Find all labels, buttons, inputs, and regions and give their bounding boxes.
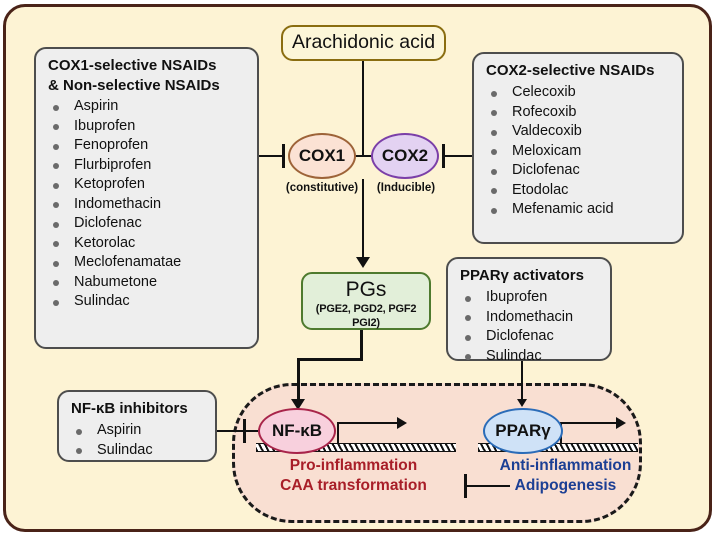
edge-pgs-to-nfkb-vertical [297, 358, 300, 403]
edge-pgs-stem [360, 330, 363, 361]
pgs-label: PGs [303, 274, 429, 302]
list-item: Indomethacin [462, 308, 610, 328]
list-item: Ketoprofen [50, 175, 257, 195]
arachidonic-acid-label: Arachidonic acid [292, 31, 435, 53]
nfkb-node: NF-κB [258, 408, 336, 454]
list-item: Rofecoxib [488, 103, 682, 123]
list-item: Ibuprofen [50, 117, 257, 137]
cox1-box-heading-line1: COX1-selective NSAIDs [36, 49, 257, 76]
promoter-arrow-ppar-horizontal [560, 422, 618, 424]
edge-pgs-elbow-horizontal [297, 358, 363, 361]
list-item: Aspirin [50, 97, 257, 117]
cox2-enzyme-node: COX2 [371, 133, 439, 179]
ppar-activators-box: PPARγ activators Ibuprofen Indomethacin … [446, 257, 612, 361]
pro-inflammation-line2: CAA transformation [246, 476, 461, 496]
edge-ppar-inhibits-nfkb-line [464, 485, 510, 487]
list-item: Meclofenamatae [50, 253, 257, 273]
list-item: Ketorolac [50, 234, 257, 254]
pro-inflammation-line1: Pro-inflammation [246, 456, 461, 476]
list-item: Celecoxib [488, 83, 682, 103]
edge-cox2nsaids-inhibits-cox2-bar [442, 144, 445, 168]
list-item: Ibuprofen [462, 288, 610, 308]
promoter-arrow-ppar-head [616, 417, 626, 429]
edge-activators-to-ppar-line [521, 361, 523, 403]
pro-inflammation-output: Pro-inflammation CAA transformation [246, 456, 461, 496]
list-item: Sulindac [73, 441, 215, 461]
cox1-enzyme-node: COX1 [288, 133, 356, 179]
ppar-label: PPARγ [495, 421, 550, 440]
list-item: Sulindac [50, 292, 257, 312]
ppar-node: PPARγ [483, 408, 563, 454]
list-item: Etodolac [488, 181, 682, 201]
cox2-box-list: Celecoxib Rofecoxib Valdecoxib Meloxicam… [474, 82, 682, 227]
list-item: Flurbiprofen [50, 156, 257, 176]
ppar-box-list: Ibuprofen Indomethacin Diclofenac Sulind… [448, 287, 610, 373]
list-item: Diclofenac [462, 327, 610, 347]
cox1-selective-nsaids-box: COX1-selective NSAIDs & Non-selective NS… [34, 47, 259, 349]
cox1-label: COX1 [299, 146, 345, 165]
anti-inflammation-output: Anti-inflammation Adipogenesis [478, 456, 653, 496]
nfkb-box-heading: NF-κB inhibitors [59, 392, 215, 420]
cox2-sublabel: (Inducible) [360, 182, 452, 194]
nfkb-box-list: Aspirin Sulindac [59, 420, 215, 467]
pgs-sublabel: (PGE2, PGD2, PGF2 PGI2) [303, 302, 429, 330]
list-item: Meloxicam [488, 142, 682, 162]
list-item: Indomethacin [50, 195, 257, 215]
edge-ppar-inhibits-nfkb-bar [464, 474, 467, 498]
cox2-label: COX2 [382, 146, 428, 165]
list-item: Valdecoxib [488, 122, 682, 142]
promoter-arrow-nfkb-horizontal [337, 422, 399, 424]
cox2-selective-nsaids-box: COX2-selective NSAIDs Celecoxib Rofecoxi… [472, 52, 684, 244]
list-item: Diclofenac [488, 161, 682, 181]
nfkb-label: NF-κB [272, 421, 322, 440]
list-item: Nabumetone [50, 273, 257, 293]
list-item: Sulindac [462, 347, 610, 367]
pgs-node: PGs (PGE2, PGD2, PGF2 PGI2) [301, 272, 431, 330]
edge-inhibitors-to-nfkb-bar [243, 419, 246, 443]
cox2-box-heading: COX2-selective NSAIDs [474, 54, 682, 82]
cox1-sublabel: (constitutive) [276, 182, 368, 194]
edge-nsaids-inhibits-cox1-bar [282, 144, 285, 168]
promoter-arrow-nfkb-head [397, 417, 407, 429]
pathway-diagram: Arachidonic acid COX1 (constitutive) COX… [0, 0, 715, 541]
nfkb-inhibitors-box: NF-κB inhibitors Aspirin Sulindac [57, 390, 217, 462]
ppar-box-heading: PPARγ activators [448, 259, 610, 287]
cox1-box-heading-line2: & Non-selective NSAIDs [36, 76, 257, 96]
arachidonic-acid-node: Arachidonic acid [281, 25, 446, 61]
list-item: Fenoprofen [50, 136, 257, 156]
edge-cox-to-pgs-arrowhead [356, 257, 370, 268]
cox1-box-list: Aspirin Ibuprofen Fenoprofen Flurbiprofe… [36, 96, 257, 319]
edge-cox2nsaids-inhibits-cox2-line [442, 155, 472, 157]
list-item: Mefenamic acid [488, 200, 682, 220]
edge-inhibitors-to-nfkb-line [217, 430, 258, 432]
list-item: Diclofenac [50, 214, 257, 234]
edge-aa-stem [362, 61, 364, 156]
list-item: Aspirin [73, 421, 215, 441]
anti-inflammation-line1: Anti-inflammation [478, 456, 653, 476]
edge-activators-to-ppar-arrowhead [517, 399, 527, 407]
